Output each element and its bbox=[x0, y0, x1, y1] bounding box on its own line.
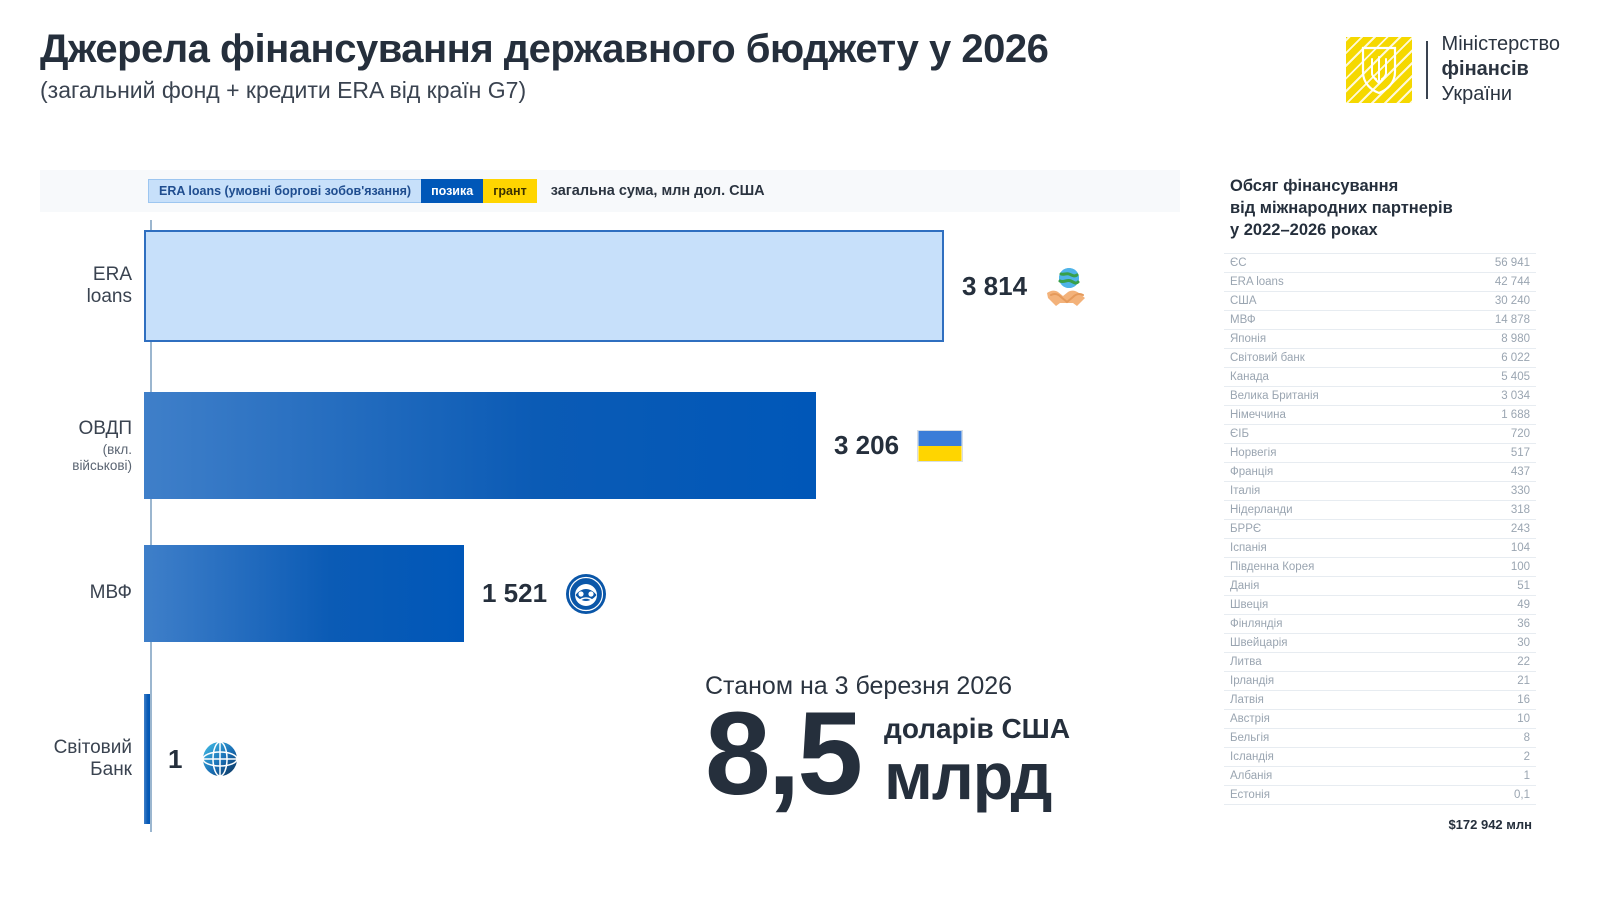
bar-value-imf: 1 521 bbox=[482, 578, 547, 609]
partner-name: ЄІБ bbox=[1224, 425, 1441, 444]
partner-name: Литва bbox=[1224, 653, 1441, 672]
partner-value: 56 941 bbox=[1441, 254, 1536, 273]
partner-name: Велика Британія bbox=[1224, 387, 1441, 406]
partner-value: 330 bbox=[1441, 482, 1536, 501]
partner-value: 100 bbox=[1441, 558, 1536, 577]
partner-name: Швеція bbox=[1224, 596, 1441, 615]
logo-line-2: фінансів bbox=[1442, 57, 1560, 82]
partner-value: 318 bbox=[1441, 501, 1536, 520]
table-row: Велика Британія3 034 bbox=[1224, 387, 1536, 406]
partner-value: 10 bbox=[1441, 710, 1536, 729]
logo-divider bbox=[1426, 41, 1428, 99]
table-row: Світовий банк6 022 bbox=[1224, 349, 1536, 368]
table-row: Австрія10 bbox=[1224, 710, 1536, 729]
partners-panel: Обсяг фінансування від міжнародних партн… bbox=[1224, 170, 1536, 832]
legend-item-grant: грант bbox=[483, 179, 536, 203]
partner-name: Нідерланди bbox=[1224, 501, 1441, 520]
legend-strip: ERA loans (умовні боргові зобов'язання) … bbox=[40, 170, 1180, 212]
tryzub-emblem-icon bbox=[1346, 37, 1412, 103]
row-label-era-loans: ERA loans bbox=[40, 264, 144, 308]
table-row: Бельгія8 bbox=[1224, 729, 1536, 748]
partner-name: Світовий банк bbox=[1224, 349, 1441, 368]
partner-name: Франція bbox=[1224, 463, 1441, 482]
partner-value: 49 bbox=[1441, 596, 1536, 615]
table-row: Ірландія21 bbox=[1224, 672, 1536, 691]
partner-value: 437 bbox=[1441, 463, 1536, 482]
partner-name: МВФ bbox=[1224, 311, 1441, 330]
partner-value: 1 688 bbox=[1441, 406, 1536, 425]
table-row: Нідерланди318 bbox=[1224, 501, 1536, 520]
table-row: Франція437 bbox=[1224, 463, 1536, 482]
bar-value-world-bank: 1 bbox=[168, 744, 182, 775]
table-row: Іспанія104 bbox=[1224, 539, 1536, 558]
table-row: Канада5 405 bbox=[1224, 368, 1536, 387]
legend-item-era-loans: ERA loans (умовні боргові зобов'язання) bbox=[148, 179, 421, 203]
logo-text: Міністерство фінансів України bbox=[1442, 32, 1560, 107]
partner-name: Канада bbox=[1224, 368, 1441, 387]
partner-value: 30 240 bbox=[1441, 292, 1536, 311]
partner-value: 6 022 bbox=[1441, 349, 1536, 368]
table-row: Норвегія517 bbox=[1224, 444, 1536, 463]
partner-name: ERA loans bbox=[1224, 273, 1441, 292]
stat-unit-scale: млрд bbox=[884, 743, 1070, 809]
logo-line-3: України bbox=[1442, 82, 1560, 107]
table-row: Литва22 bbox=[1224, 653, 1536, 672]
partner-value: 104 bbox=[1441, 539, 1536, 558]
row-label-imf: МВФ bbox=[40, 582, 144, 604]
table-row: Японія8 980 bbox=[1224, 330, 1536, 349]
partner-value: 0,1 bbox=[1441, 786, 1536, 805]
bar-world-bank bbox=[144, 694, 150, 824]
partner-name: ЄС bbox=[1224, 254, 1441, 273]
bar-value-ovdp: 3 206 bbox=[834, 430, 899, 461]
partner-name: Південна Корея bbox=[1224, 558, 1441, 577]
table-row: Данія51 bbox=[1224, 577, 1536, 596]
partner-value: 16 bbox=[1441, 691, 1536, 710]
table-row: ЄІБ720 bbox=[1224, 425, 1536, 444]
table-row: ЄС56 941 bbox=[1224, 254, 1536, 273]
partner-value: 5 405 bbox=[1441, 368, 1536, 387]
partner-value: 30 bbox=[1441, 634, 1536, 653]
imf-seal-icon bbox=[565, 573, 607, 615]
stat-number: 8,5 bbox=[705, 697, 860, 813]
partner-value: 36 bbox=[1441, 615, 1536, 634]
chart-row-imf: МВФ 1 521 bbox=[40, 545, 1180, 642]
ukraine-flag-icon bbox=[917, 430, 963, 462]
partner-value: 720 bbox=[1441, 425, 1536, 444]
table-row: ERA loans42 744 bbox=[1224, 273, 1536, 292]
row-label-ovdp: ОВДП (вкл. військові) bbox=[40, 418, 144, 473]
partner-value: 243 bbox=[1441, 520, 1536, 539]
table-row: БРРЄ243 bbox=[1224, 520, 1536, 539]
world-bank-globe-icon bbox=[200, 739, 240, 779]
bar-value-era-loans: 3 814 bbox=[962, 271, 1027, 302]
table-row: Ісландія2 bbox=[1224, 748, 1536, 767]
table-row: США30 240 bbox=[1224, 292, 1536, 311]
partner-name: Ірландія bbox=[1224, 672, 1441, 691]
partner-value: 2 bbox=[1441, 748, 1536, 767]
bar-imf bbox=[144, 545, 464, 642]
headline-stat: Станом на 3 березня 2026 8,5 доларів США… bbox=[705, 672, 1070, 813]
chart-row-ovdp: ОВДП (вкл. військові) 3 206 bbox=[40, 392, 1180, 499]
page-title: Джерела фінансування державного бюджету … bbox=[40, 28, 1560, 70]
page-subtitle: (загальний фонд + кредити ERA від країн … bbox=[40, 77, 1560, 104]
legend-item-loan: позика bbox=[421, 179, 483, 203]
partner-name: Ісландія bbox=[1224, 748, 1441, 767]
header: Джерела фінансування державного бюджету … bbox=[40, 28, 1560, 138]
table-row: МВФ14 878 bbox=[1224, 311, 1536, 330]
partner-value: 517 bbox=[1441, 444, 1536, 463]
partner-value: 8 980 bbox=[1441, 330, 1536, 349]
row-label-world-bank: Світовий Банк bbox=[40, 737, 144, 781]
partner-value: 21 bbox=[1441, 672, 1536, 691]
partner-name: Австрія bbox=[1224, 710, 1441, 729]
partner-name: Фінляндія bbox=[1224, 615, 1441, 634]
partner-name: Італія bbox=[1224, 482, 1441, 501]
partner-name: Норвегія bbox=[1224, 444, 1441, 463]
table-row: Італія330 bbox=[1224, 482, 1536, 501]
partner-value: 1 bbox=[1441, 767, 1536, 786]
partner-name: Швейцарія bbox=[1224, 634, 1441, 653]
partner-name: Албанія bbox=[1224, 767, 1441, 786]
table-row: Фінляндія36 bbox=[1224, 615, 1536, 634]
bar-era-loans bbox=[144, 230, 944, 342]
partners-table: ЄС56 941ERA loans42 744США30 240МВФ14 87… bbox=[1224, 253, 1536, 805]
table-row: Латвія16 bbox=[1224, 691, 1536, 710]
table-row: Швеція49 bbox=[1224, 596, 1536, 615]
partner-name: Латвія bbox=[1224, 691, 1441, 710]
partner-name: Японія bbox=[1224, 330, 1441, 349]
partner-value: 22 bbox=[1441, 653, 1536, 672]
partner-value: 3 034 bbox=[1441, 387, 1536, 406]
table-row: Албанія1 bbox=[1224, 767, 1536, 786]
partner-value: 51 bbox=[1441, 577, 1536, 596]
legend-caption: загальна сума, млн дол. США bbox=[551, 179, 765, 203]
partner-value: 8 bbox=[1441, 729, 1536, 748]
partners-total: $172 942 млн bbox=[1224, 805, 1536, 832]
panel-title: Обсяг фінансування від міжнародних партн… bbox=[1224, 170, 1536, 253]
partner-name: Естонія bbox=[1224, 786, 1441, 805]
partner-value: 42 744 bbox=[1441, 273, 1536, 292]
partner-name: БРРЄ bbox=[1224, 520, 1441, 539]
logo-line-1: Міністерство bbox=[1442, 32, 1560, 57]
bar-ovdp bbox=[144, 392, 816, 499]
partner-name: Іспанія bbox=[1224, 539, 1441, 558]
chart-legend: ERA loans (умовні боргові зобов'язання) … bbox=[148, 179, 765, 203]
partner-name: Бельгія bbox=[1224, 729, 1441, 748]
table-row: Південна Корея100 bbox=[1224, 558, 1536, 577]
infographic-page: Джерела фінансування державного бюджету … bbox=[0, 0, 1600, 900]
ministry-logo: Міністерство фінансів України bbox=[1346, 32, 1560, 107]
partner-name: Німеччина bbox=[1224, 406, 1441, 425]
partner-name: Данія bbox=[1224, 577, 1441, 596]
table-row: Німеччина1 688 bbox=[1224, 406, 1536, 425]
table-row: Естонія0,1 bbox=[1224, 786, 1536, 805]
table-row: Швейцарія30 bbox=[1224, 634, 1536, 653]
handshake-globe-icon bbox=[1045, 264, 1089, 308]
chart-row-era-loans: ERA loans 3 814 bbox=[40, 230, 1180, 342]
partner-name: США bbox=[1224, 292, 1441, 311]
partner-value: 14 878 bbox=[1441, 311, 1536, 330]
